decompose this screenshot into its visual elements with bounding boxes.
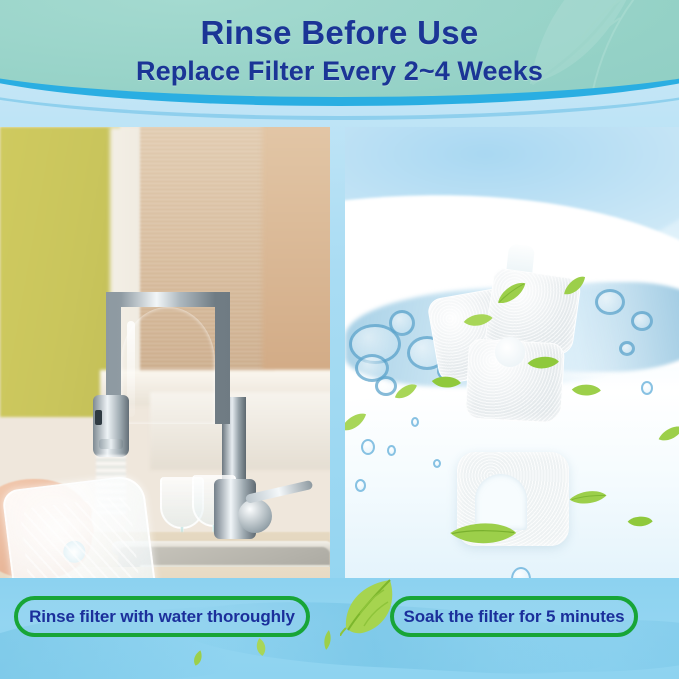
water-scene — [345, 127, 679, 584]
product-infographic: Rinse Before Use Replace Filter Every 2~… — [0, 0, 679, 679]
bubble-ring — [595, 289, 625, 315]
water-droplet — [411, 417, 419, 427]
wet-filter — [1, 474, 160, 584]
bubble-ring — [631, 311, 653, 331]
soak-step-illustration — [345, 127, 679, 584]
cartridge-hole — [495, 337, 525, 367]
soak-caption-label: Soak the filter for 5 minutes — [404, 607, 625, 627]
steps-panel-row — [0, 127, 679, 584]
header-title-block: Rinse Before Use Replace Filter Every 2~… — [0, 14, 679, 88]
green-leaf-icon — [253, 637, 270, 657]
water-droplet — [361, 439, 375, 455]
rinse-step-photo — [0, 127, 330, 584]
green-leaf-icon — [568, 486, 608, 509]
kitchen-scene — [0, 127, 330, 584]
rinse-caption-label: Rinse filter with water thoroughly — [29, 607, 295, 627]
faucet-disc — [238, 499, 272, 533]
bubble-ring — [389, 310, 415, 336]
soak-caption-badge: Soak the filter for 5 minutes — [390, 596, 638, 637]
green-leaf-icon — [656, 425, 679, 445]
window-blind-right — [262, 127, 330, 373]
faucet-spray-head — [93, 395, 129, 457]
water-droplet — [355, 479, 366, 492]
water-droplet — [433, 459, 441, 468]
water-droplet — [387, 445, 396, 456]
green-leaf-icon — [626, 512, 655, 533]
page-subtitle: Replace Filter Every 2~4 Weeks — [0, 54, 679, 88]
water-droplet — [641, 381, 653, 395]
page-title: Rinse Before Use — [0, 14, 679, 52]
bubble-ring — [619, 341, 635, 356]
rinse-caption-badge: Rinse filter with water thoroughly — [14, 596, 310, 637]
faucet-mode-button — [95, 410, 102, 425]
